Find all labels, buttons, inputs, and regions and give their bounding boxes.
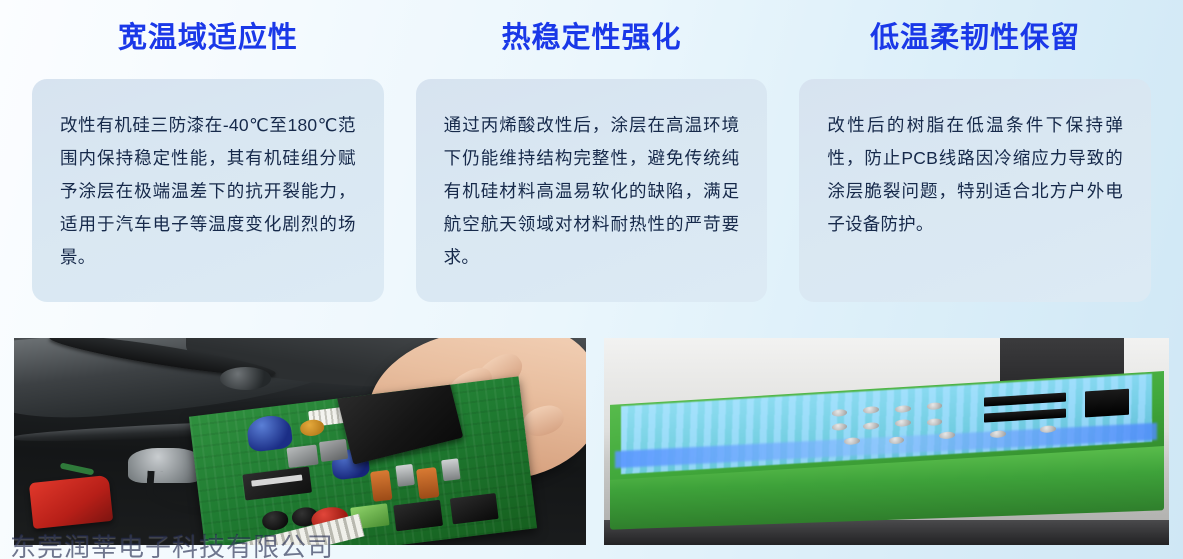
uv-coating-illustration [604, 338, 1169, 545]
feature-card-2: 通过丙烯酸改性后，涂层在高温环境下仍能维持结构完整性，避免传统纯有机硅材料高温易… [416, 79, 768, 302]
feature-body-3: 改性后的树脂在低温条件下保持弹性，防止PCB线路因冷缩应力导致的涂层脆裂问题，特… [827, 109, 1123, 241]
feature-column-2: 热稳定性强化 通过丙烯酸改性后，涂层在高温环境下仍能维持结构完整性，避免传统纯有… [416, 0, 768, 302]
metal-component-shape [395, 463, 414, 486]
black-block-shape [394, 500, 443, 531]
photo-uv-coated-pcb [604, 338, 1169, 545]
feature-section: 宽温域适应性 改性有机硅三防漆在-40℃至180℃范围内保持稳定性能，其有机硅组… [0, 0, 1183, 302]
solder-pad-shape [831, 423, 847, 431]
finger-shape [519, 400, 567, 439]
inductor-shape [286, 444, 318, 467]
circuit-board-shape [189, 376, 537, 545]
feature-title-2: 热稳定性强化 [416, 0, 768, 79]
solder-pad-shape [990, 430, 1006, 438]
ic-chip-shape [1084, 389, 1128, 418]
ic-chip-shape [983, 409, 1065, 423]
solder-pad-shape [863, 406, 879, 414]
wiper-knob-shape [220, 367, 271, 390]
coil-shape [369, 469, 392, 502]
feature-body-2: 通过丙烯酸改性后，涂层在高温环境下仍能维持结构完整性，避免传统纯有机硅材料高温易… [444, 109, 740, 274]
black-capacitor-shape [261, 510, 290, 531]
solder-pad-shape [863, 422, 879, 430]
solder-pad-shape [926, 419, 942, 427]
feature-card-3: 改性后的树脂在低温条件下保持弹性，防止PCB线路因冷缩应力导致的涂层脆裂问题，特… [799, 79, 1151, 302]
solder-pad-shape [1040, 426, 1056, 434]
solder-pad-shape [895, 419, 911, 427]
solder-pad-shape [888, 436, 904, 444]
image-gallery [14, 338, 1169, 545]
red-cap-shape [29, 475, 113, 529]
photo-engine-bay-pcb [14, 338, 586, 545]
feature-title-1: 宽温域适应性 [32, 0, 384, 79]
capacitor-shape [246, 414, 293, 453]
solder-pad-shape [895, 405, 911, 413]
feature-title-3: 低温柔韧性保留 [799, 0, 1151, 79]
green-wire-shape [59, 463, 94, 476]
inductor-shape [319, 439, 348, 462]
ic-chip-shape [243, 467, 312, 501]
feature-card-1: 改性有机硅三防漆在-40℃至180℃范围内保持稳定性能，其有机硅组分赋予涂层在极… [32, 79, 384, 302]
feature-body-1: 改性有机硅三防漆在-40℃至180℃范围内保持稳定性能，其有机硅组分赋予涂层在极… [60, 109, 356, 274]
solder-pad-shape [926, 402, 942, 410]
solder-pad-shape [939, 432, 955, 440]
coil-shape [416, 467, 439, 500]
metal-component-shape [442, 458, 461, 481]
solder-pad-shape [844, 438, 860, 446]
feature-column-3: 低温柔韧性保留 改性后的树脂在低温条件下保持弹性，防止PCB线路因冷缩应力导致的… [799, 0, 1151, 302]
feature-column-1: 宽温域适应性 改性有机硅三防漆在-40℃至180℃范围内保持稳定性能，其有机硅组… [32, 0, 384, 302]
black-block-shape [450, 493, 499, 524]
ic-chip-shape [983, 393, 1065, 407]
solder-pad-shape [831, 409, 847, 417]
engine-bay-illustration [14, 338, 586, 545]
orange-component-shape [300, 419, 325, 437]
